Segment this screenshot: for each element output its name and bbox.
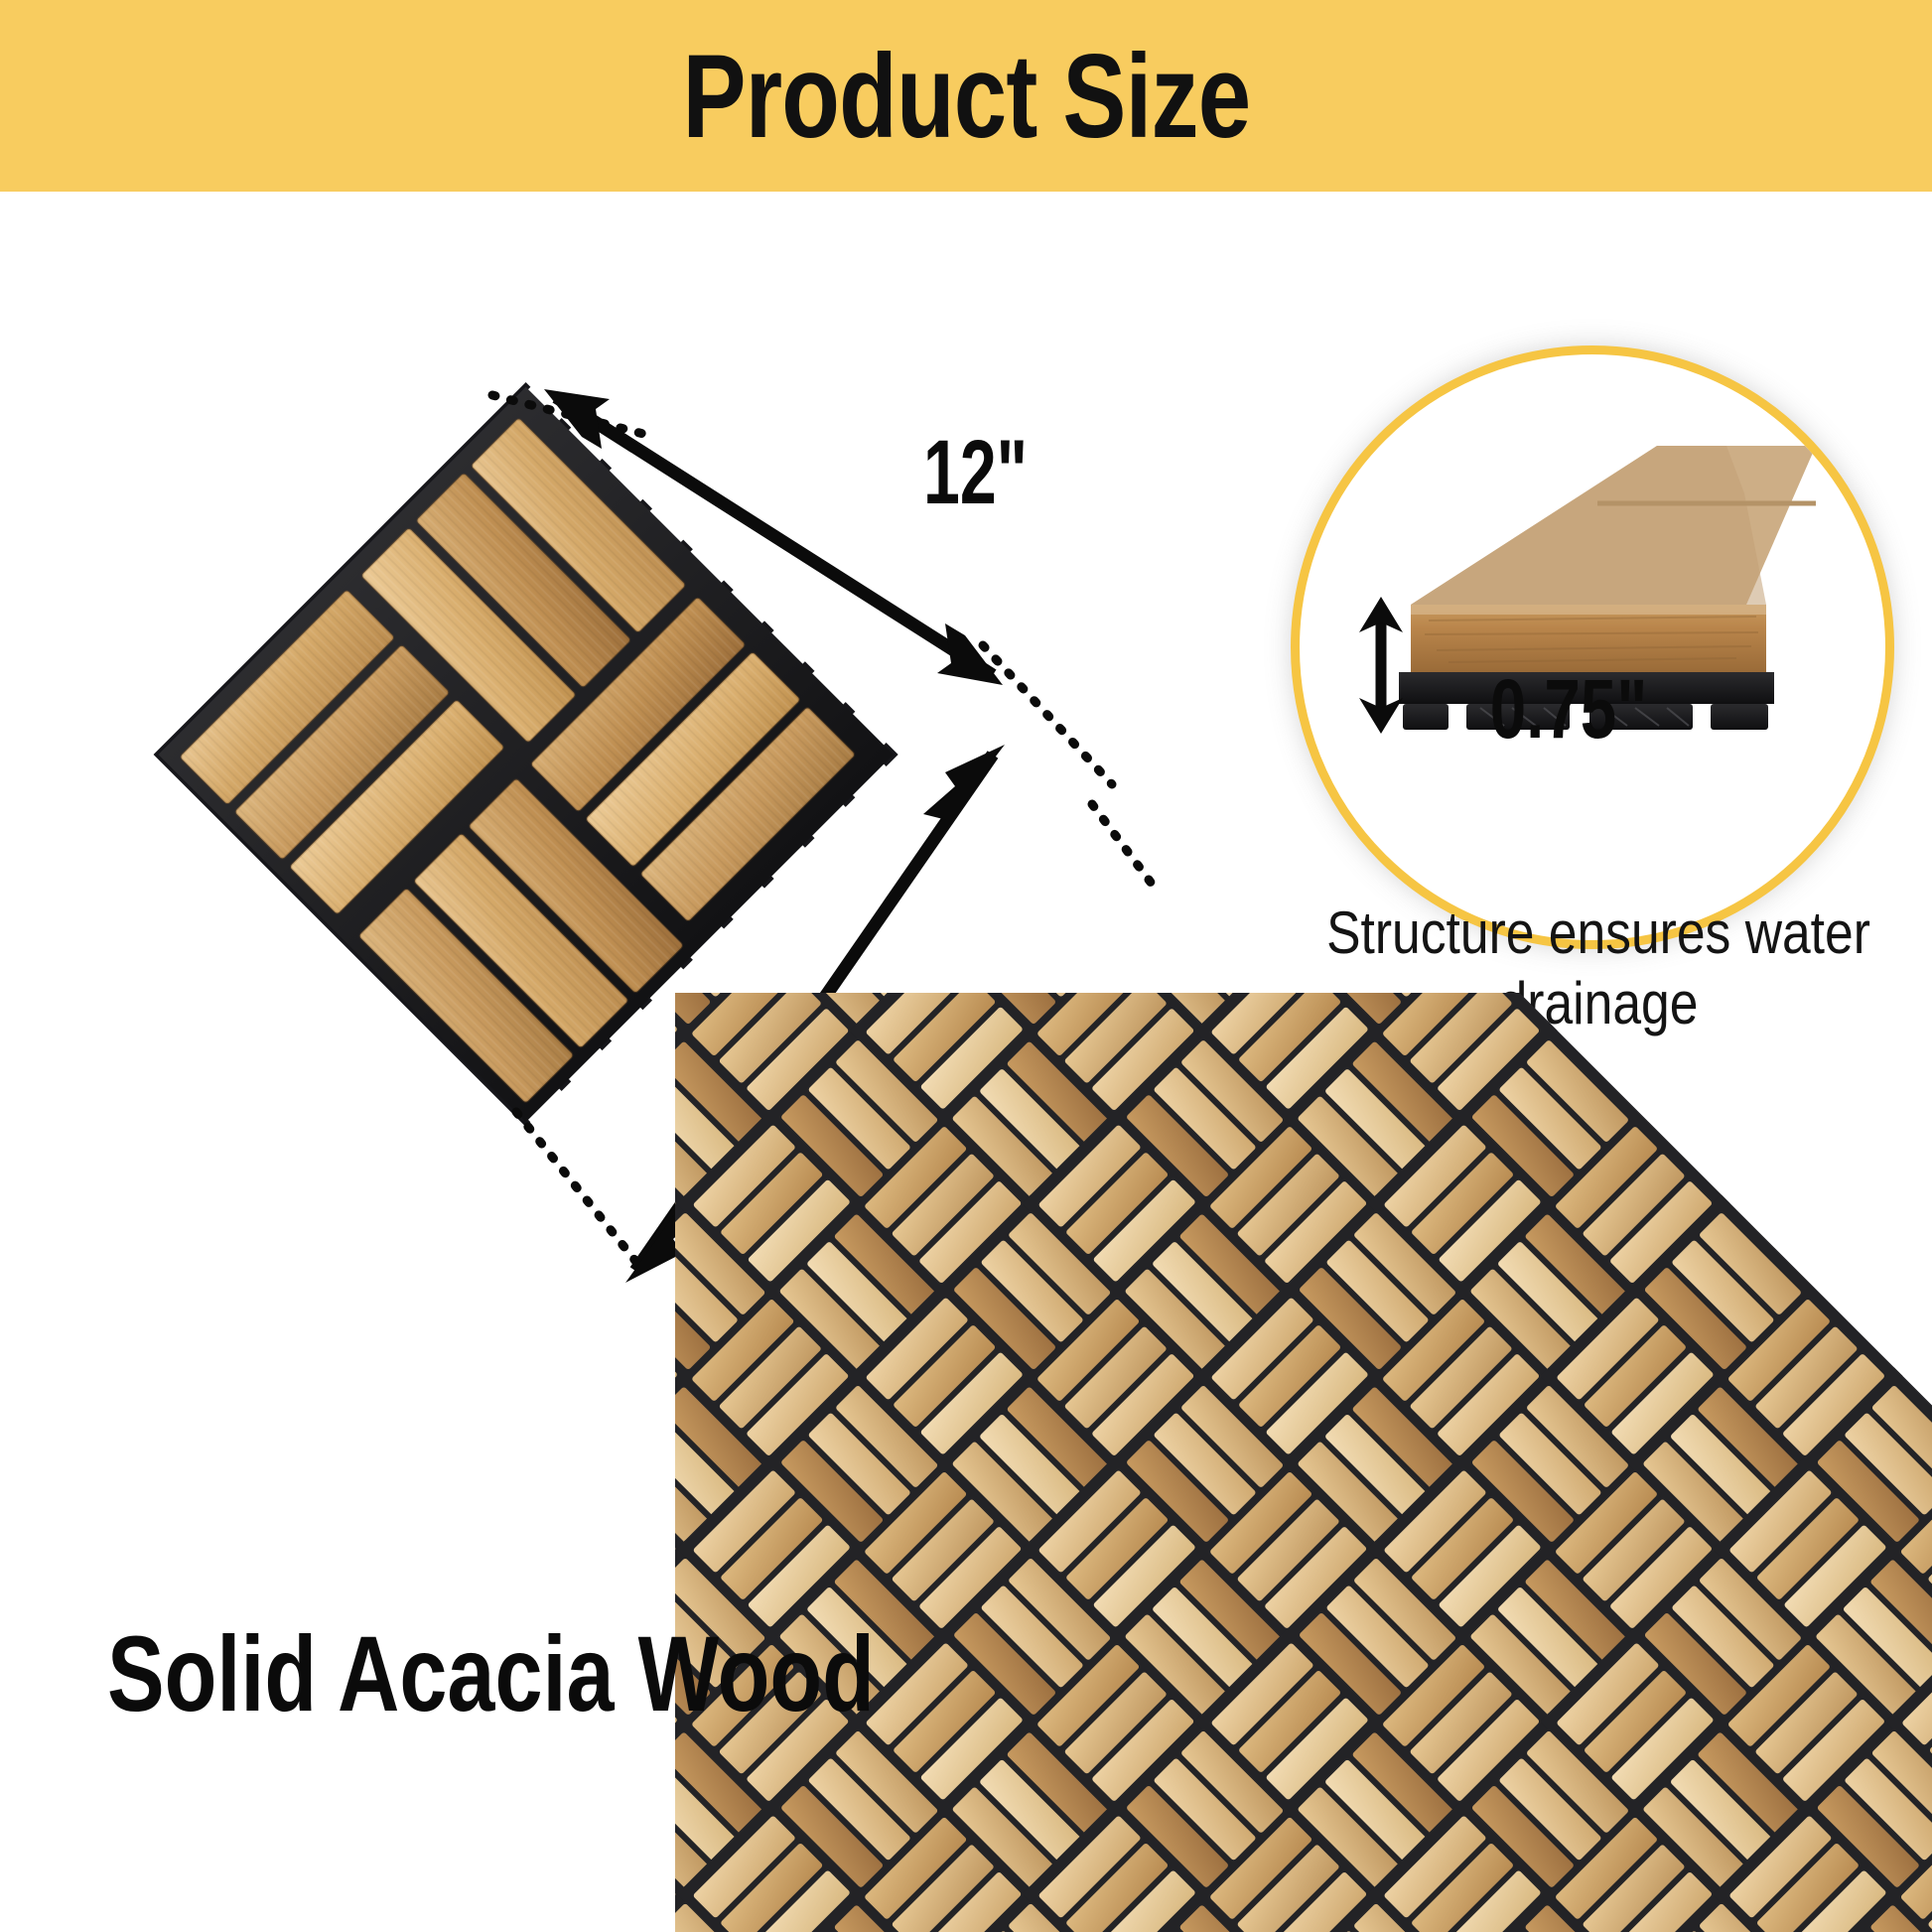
material-heading: Solid Acacia Wood bbox=[107, 1620, 875, 1727]
dimension-width-label: 12" bbox=[923, 427, 1028, 518]
extension-line-right-lower bbox=[1092, 804, 1152, 884]
measure-line-depth bbox=[635, 755, 993, 1271]
arrowhead-upper bbox=[923, 745, 1005, 820]
tile-edge-highlight bbox=[1411, 605, 1766, 615]
infographic-canvas: Product Size bbox=[0, 0, 1932, 1932]
extension-line-top bbox=[492, 395, 655, 437]
product-tile-image bbox=[154, 378, 905, 1130]
header-banner: Product Size bbox=[0, 0, 1932, 192]
tile-top-shade bbox=[1411, 446, 1766, 605]
arrowhead-right bbox=[937, 623, 1003, 685]
page-title: Product Size bbox=[682, 37, 1250, 156]
arrowhead-left bbox=[544, 389, 610, 449]
arrowhead-lower bbox=[625, 1205, 705, 1283]
drainage-caption-line1: Structure ensures water bbox=[1325, 898, 1871, 969]
dimension-depth-label: 12" bbox=[953, 1132, 1057, 1223]
extension-line-right bbox=[983, 645, 1112, 784]
thickness-detail-circle bbox=[1291, 345, 1894, 949]
thickness-detail-drawing bbox=[1300, 354, 1867, 922]
thickness-arrow bbox=[1359, 597, 1403, 734]
drainage-caption-line2: drainage bbox=[1325, 969, 1871, 1039]
extension-line-bottom bbox=[516, 1112, 635, 1261]
drainage-caption: Structure ensures water drainage bbox=[1325, 898, 1871, 1039]
tile-plastic-base bbox=[154, 378, 905, 1130]
thickness-value-label: 0.75" bbox=[1452, 667, 1685, 751]
